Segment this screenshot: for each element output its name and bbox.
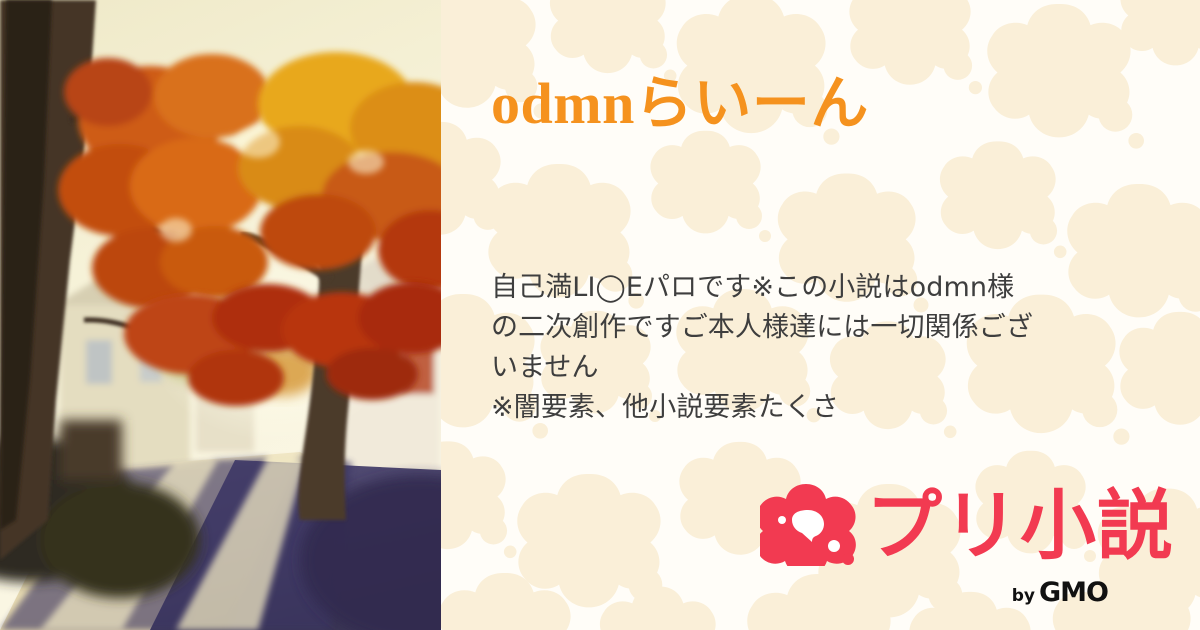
brand-name: プリ小説	[866, 488, 1174, 564]
story-description: 自己満LI◯Eパロです※この小説はodmn様 の二次創作ですご本人様達には一切関…	[491, 268, 1163, 428]
brand-byline-company: GMO	[1039, 577, 1108, 608]
info-panel: odmnらいーん 自己満LI◯Eパロです※この小説はodmn様 の二次創作ですご…	[441, 0, 1200, 630]
thought-cloud-bubble-icon	[760, 480, 856, 571]
brand-byline-prefix: by	[1012, 586, 1035, 606]
og-share-card: odmnらいーん 自己満LI◯Eパロです※この小説はodmn様 の二次創作ですご…	[0, 0, 1200, 630]
brand-logo[interactable]: プリ小説 by GMO	[760, 480, 1174, 608]
page-title: odmnらいーん	[491, 72, 1161, 137]
cover-image	[0, 0, 441, 630]
brand-byline: by GMO	[1012, 577, 1108, 608]
brand-logo-main: プリ小説	[760, 480, 1174, 571]
